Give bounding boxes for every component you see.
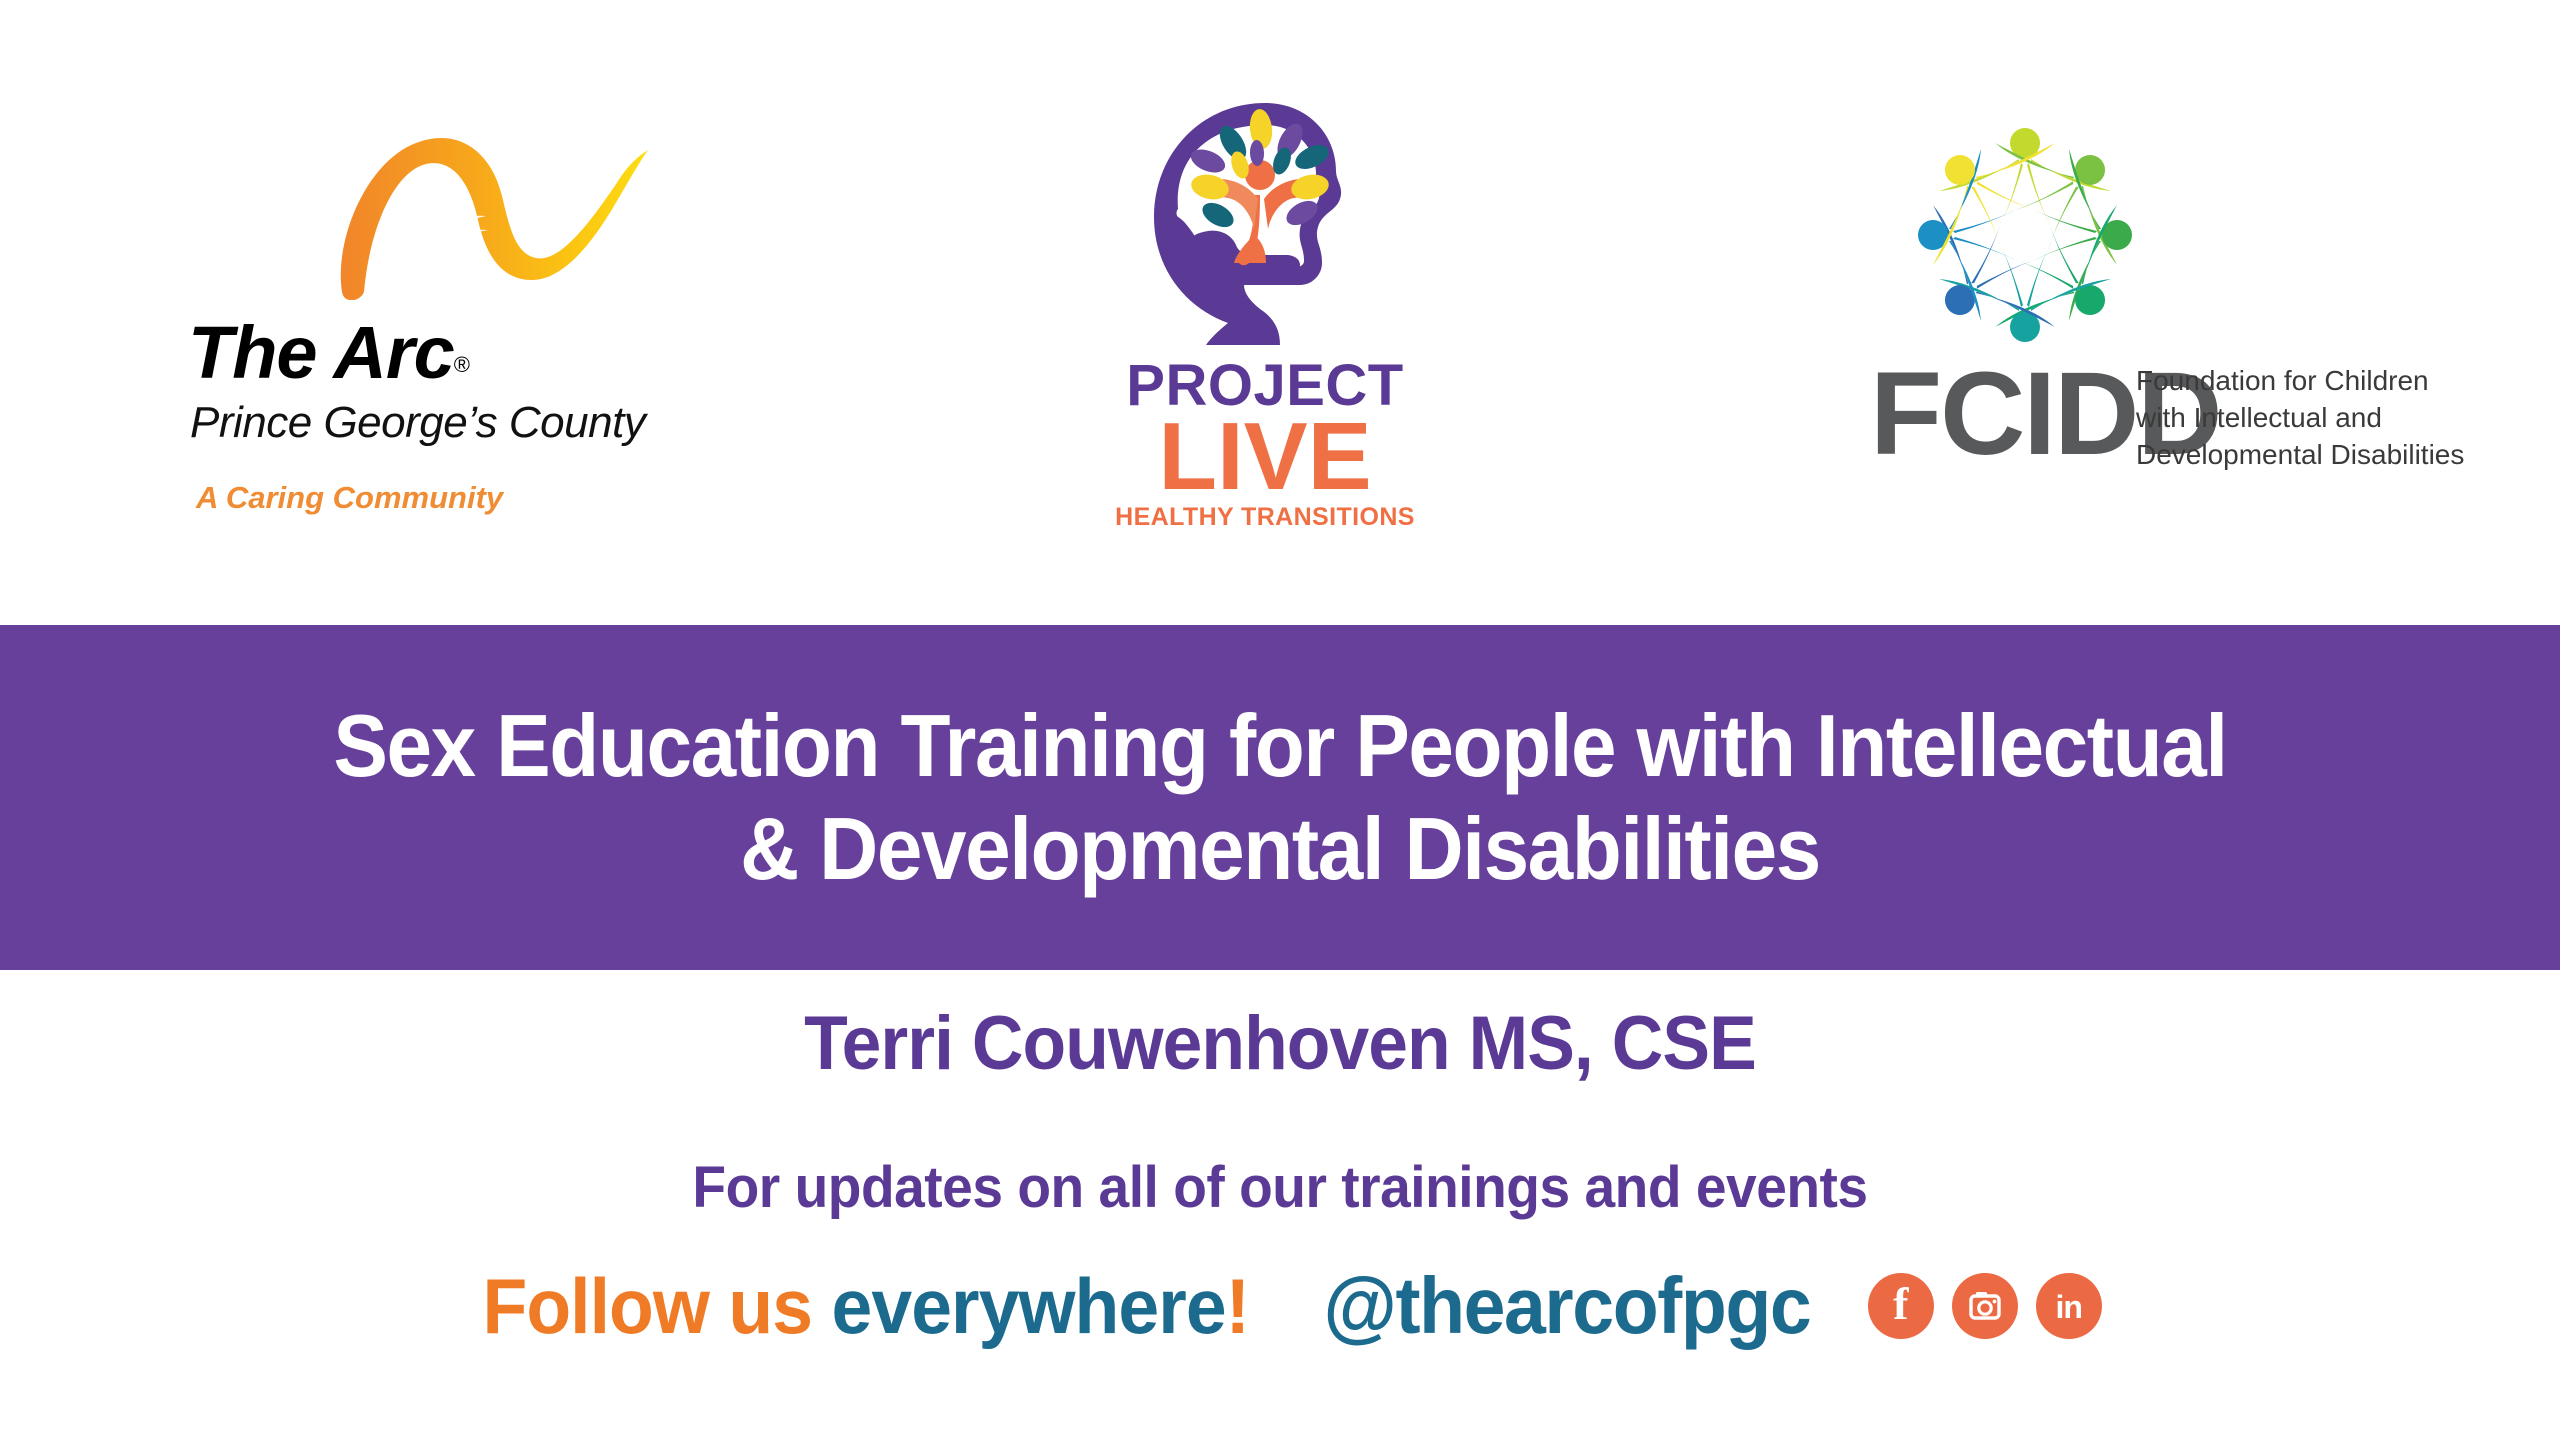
updates-line: For updates on all of our trainings and … [64,1154,2496,1221]
project-live-subtitle: HEALTHY TRANSITIONS [1115,505,1415,530]
arc-tagline: A Caring Community [196,480,503,516]
follow-us-exclamation: ! [1226,1262,1249,1350]
project-live-logo: PROJECT LIVE HEALTHY TRANSITIONS [1115,95,1415,545]
arc-county-label: Prince George’s County [190,398,645,448]
logo-strip: The Arc® Prince George’s County A Caring… [0,0,2560,625]
social-handle[interactable]: @thearcofpgc [1323,1260,1810,1352]
follow-us-orange: Follow us [483,1262,832,1350]
arc-swoosh-icon [320,120,650,300]
event-title-line-2: & Developmental Disabilities [220,798,2340,900]
follow-us-text: Follow us everywhere! [483,1261,1250,1352]
social-icons-group: f in [1868,1273,2102,1339]
the-arc-logo: The Arc® Prince George’s County A Caring… [180,120,650,540]
fcidd-description: Foundation for Children with Intellectua… [2136,363,2464,474]
project-live-word-live: LIVE [1115,409,1415,505]
facebook-icon[interactable]: f [1868,1273,1934,1339]
project-live-head-tree-icon [1140,95,1390,350]
speaker-name: Terri Couwenhoven MS, CSE [77,1000,2483,1087]
registered-trademark-icon: ® [454,352,469,377]
fcidd-description-line-1: Foundation for Children [2136,363,2464,400]
fcidd-description-line-3: Developmental Disabilities [2136,437,2464,474]
event-title-banner: Sex Education Training for People with I… [0,625,2560,970]
fcidd-description-line-2: with Intellectual and [2136,400,2464,437]
fcidd-people-circle-icon [1880,95,2170,375]
linkedin-glyph: in [2056,1291,2082,1323]
event-title-line-1: Sex Education Training for People with I… [220,695,2340,797]
lower-content: Terri Couwenhoven MS, CSE For updates on… [0,970,2560,1440]
facebook-glyph: f [1893,1281,1908,1327]
fcidd-logo: FCIDD Foundation for Children with Intel… [1870,95,2430,495]
linkedin-icon[interactable]: in [2036,1273,2102,1339]
follow-row: Follow us everywhere! @thearcofpgc f in [0,1260,2560,1352]
event-title: Sex Education Training for People with I… [220,695,2340,899]
instagram-icon[interactable] [1952,1273,2018,1339]
follow-us-everywhere: everywhere [832,1262,1226,1350]
arc-wordmark: The Arc® [188,310,469,395]
